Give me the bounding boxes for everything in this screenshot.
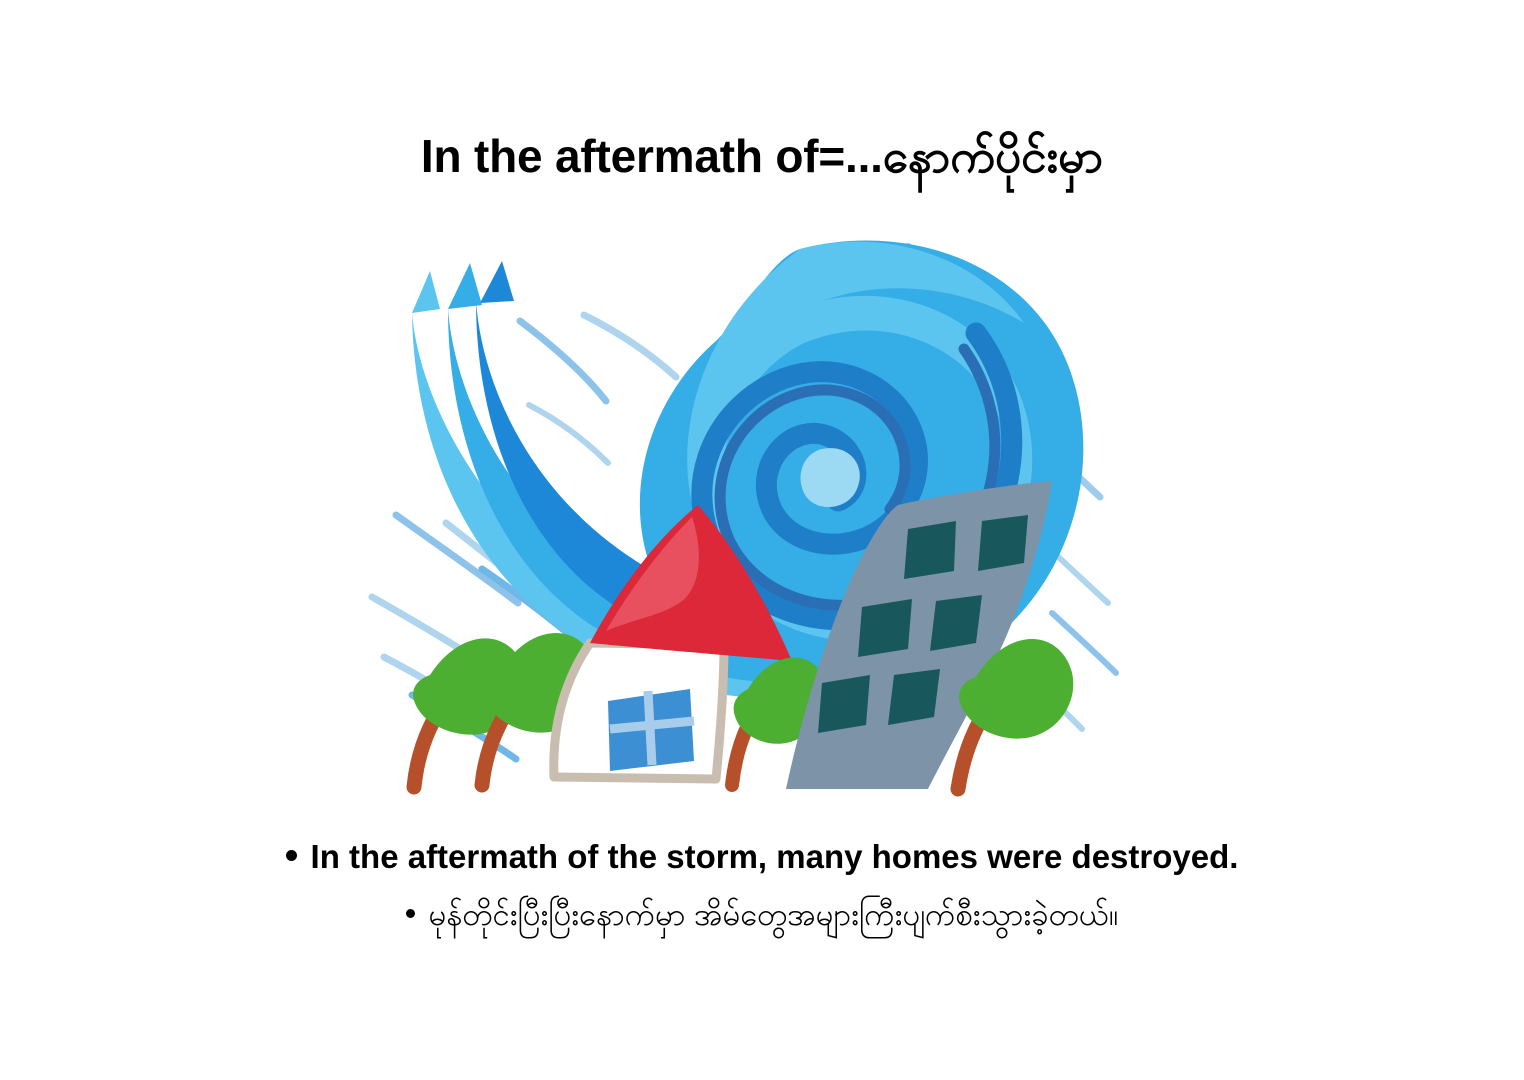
page-title: In the aftermath of=...နောက်ပိုင်းမှာ (0, 131, 1524, 182)
bullet-list: In the aftermath of the storm, many home… (0, 836, 1524, 939)
bullet-marker-icon (406, 909, 415, 918)
bullet-text-burmese: မုန်တိုင်းပြီးပြီးနောက်မှာ အိမ်တွေအများက… (429, 897, 1119, 932)
bullet-text-english: In the aftermath of the storm, many home… (311, 838, 1239, 875)
list-item: မုန်တိုင်းပြီးပြီးနောက်မှာ အိမ်တွေအများက… (0, 891, 1524, 939)
bullet-marker-icon (286, 850, 297, 861)
typhoon-storm-damage-illustration (352, 205, 1132, 817)
list-item: In the aftermath of the storm, many home… (0, 836, 1524, 877)
slide-root: In the aftermath of=...နောက်ပိုင်းမှာ (0, 0, 1524, 1080)
